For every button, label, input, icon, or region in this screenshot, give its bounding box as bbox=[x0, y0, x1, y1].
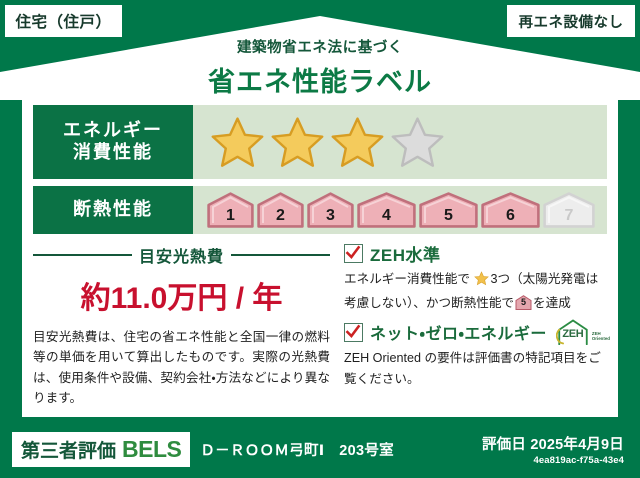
cost-heading-text: 目安光熱費 bbox=[139, 243, 224, 267]
star-icon bbox=[271, 116, 324, 169]
insulation-label-text: 断熱性能 bbox=[73, 199, 153, 221]
energy-performance-label: 住宅（住戸） 再エネ設備なし 建築物省エネ法に基づく 省エネ性能ラベル エネルギ… bbox=[0, 0, 640, 478]
net-zero-energy-heading: ネット・ゼロ・エネルギー ZEH ZEH O bbox=[344, 319, 610, 345]
net-zero-energy-block: ネット・ゼロ・エネルギー ZEH ZEH O bbox=[344, 319, 610, 389]
main-panel: エネルギー 消費性能 断熱性能 1234567 目安光熱費 bbox=[22, 95, 618, 417]
net-zero-energy-title: ネット・ゼロ・エネルギー bbox=[370, 320, 547, 344]
star-rating bbox=[211, 116, 444, 169]
energy-performance-row: エネルギー 消費性能 bbox=[33, 105, 607, 179]
cost-heading: 目安光熱費 bbox=[33, 243, 330, 267]
grade-badge-5: 5 bbox=[419, 192, 478, 228]
grade-badge-3: 3 bbox=[307, 192, 354, 228]
grade-house-shape-icon bbox=[419, 192, 478, 228]
energy-label-line1: エネルギー bbox=[63, 120, 163, 142]
check-icon bbox=[344, 323, 363, 342]
cost-amount: 約11.0万円 / 年 bbox=[33, 273, 330, 317]
star-icon bbox=[331, 116, 384, 169]
grade-badge-7: 7 bbox=[543, 192, 595, 228]
insulation-performance-value: 1234567 bbox=[193, 186, 607, 234]
net-zero-energy-body: ZEH Oriented の要件は評価書の特記項目をご覧ください。 bbox=[344, 348, 610, 389]
check-icon bbox=[344, 244, 363, 263]
grade-house-shape-icon bbox=[257, 192, 304, 228]
zeh-standard-body: エネルギー消費性能で 3つ（太陽光発電は考慮しない）、かつ断熱性能で 5を達成 bbox=[344, 269, 610, 313]
cost-rule-left bbox=[33, 254, 132, 256]
tag-renewable-equipment: 再エネ設備なし bbox=[507, 5, 635, 37]
evaluation-date: 評価日 2025年4月9日 bbox=[482, 433, 624, 454]
grade-house-shape-icon bbox=[357, 192, 416, 228]
cost-note: 目安光熱費は、住宅の省エネ性能と全国一律の燃料等の単価を用いて算出したものです。… bbox=[33, 327, 330, 409]
cost-rule-right bbox=[231, 254, 330, 256]
energy-label-line2: 消費性能 bbox=[73, 142, 153, 164]
energy-performance-value bbox=[193, 105, 607, 179]
grade-badge-6: 6 bbox=[481, 192, 540, 228]
title-subtitle: 建築物省エネ法に基づく bbox=[0, 36, 640, 57]
zeh-standard-heading: ZEH水準 bbox=[344, 241, 610, 266]
footer: 第三者評価 BELS Ｄ－ＲＯＯＭ弓町Ⅰ 203号室 評価日 2025年4月9日… bbox=[0, 421, 640, 478]
grade-badge-icon: 5 bbox=[515, 295, 532, 310]
zeh-column: ZEH水準 エネルギー消費性能で 3つ（太陽光発電は考慮しない）、かつ断熱性能で… bbox=[338, 241, 610, 409]
grade-house-shape-icon bbox=[481, 192, 540, 228]
page-title: 省エネ性能ラベル bbox=[0, 60, 640, 99]
energy-performance-label: エネルギー 消費性能 bbox=[33, 105, 193, 179]
zeh-logo-text: ZEH bbox=[556, 328, 590, 340]
tag-building-type: 住宅（住戸） bbox=[5, 5, 122, 37]
property-name: Ｄ－ＲＯＯＭ弓町Ⅰ 203号室 bbox=[200, 439, 394, 460]
grade-badge-value: 5 bbox=[515, 295, 532, 310]
zeh-logo-caption-line2: Oriented bbox=[592, 336, 610, 341]
detail-columns: 目安光熱費 約11.0万円 / 年 目安光熱費は、住宅の省エネ性能と全国一律の燃… bbox=[33, 241, 607, 409]
zeh-body-post: を達成 bbox=[533, 296, 571, 310]
zeh-standard-block: ZEH水準 エネルギー消費性能で 3つ（太陽光発電は考慮しない）、かつ断熱性能で… bbox=[344, 241, 610, 313]
bels-japanese-label: 第三者評価 bbox=[21, 436, 116, 463]
evaluation-info: 評価日 2025年4月9日 4ea819ac-f75a-43e4 bbox=[482, 433, 628, 466]
bels-badge: 第三者評価 BELS bbox=[12, 432, 190, 467]
zeh-logo-caption: ZEH Oriented bbox=[592, 332, 610, 345]
cost-column: 目安光熱費 約11.0万円 / 年 目安光熱費は、住宅の省エネ性能と全国一律の燃… bbox=[33, 241, 338, 409]
grade-badge-list: 1234567 bbox=[207, 192, 595, 228]
bels-logo-text: BELS bbox=[122, 436, 181, 463]
zeh-body-pre: エネルギー消費性能で bbox=[344, 272, 470, 286]
grade-house-shape-icon bbox=[207, 192, 254, 228]
grade-house-shape-icon bbox=[543, 192, 595, 228]
zeh-standard-title: ZEH水準 bbox=[370, 241, 441, 266]
grade-house-shape-icon bbox=[307, 192, 354, 228]
grade-badge-2: 2 bbox=[257, 192, 304, 228]
evaluation-id: 4ea819ac-f75a-43e4 bbox=[482, 455, 624, 466]
insulation-performance-row: 断熱性能 1234567 bbox=[33, 186, 607, 234]
insulation-performance-label: 断熱性能 bbox=[33, 186, 193, 234]
grade-badge-4: 4 bbox=[357, 192, 416, 228]
star-empty-icon bbox=[391, 116, 444, 169]
star-icon bbox=[211, 116, 264, 169]
title-block: 建築物省エネ法に基づく 省エネ性能ラベル bbox=[0, 36, 640, 99]
grade-badge-1: 1 bbox=[207, 192, 254, 228]
star-icon bbox=[471, 275, 490, 289]
zeh-house-logo-icon: ZEH ZEH Oriented bbox=[556, 319, 610, 345]
